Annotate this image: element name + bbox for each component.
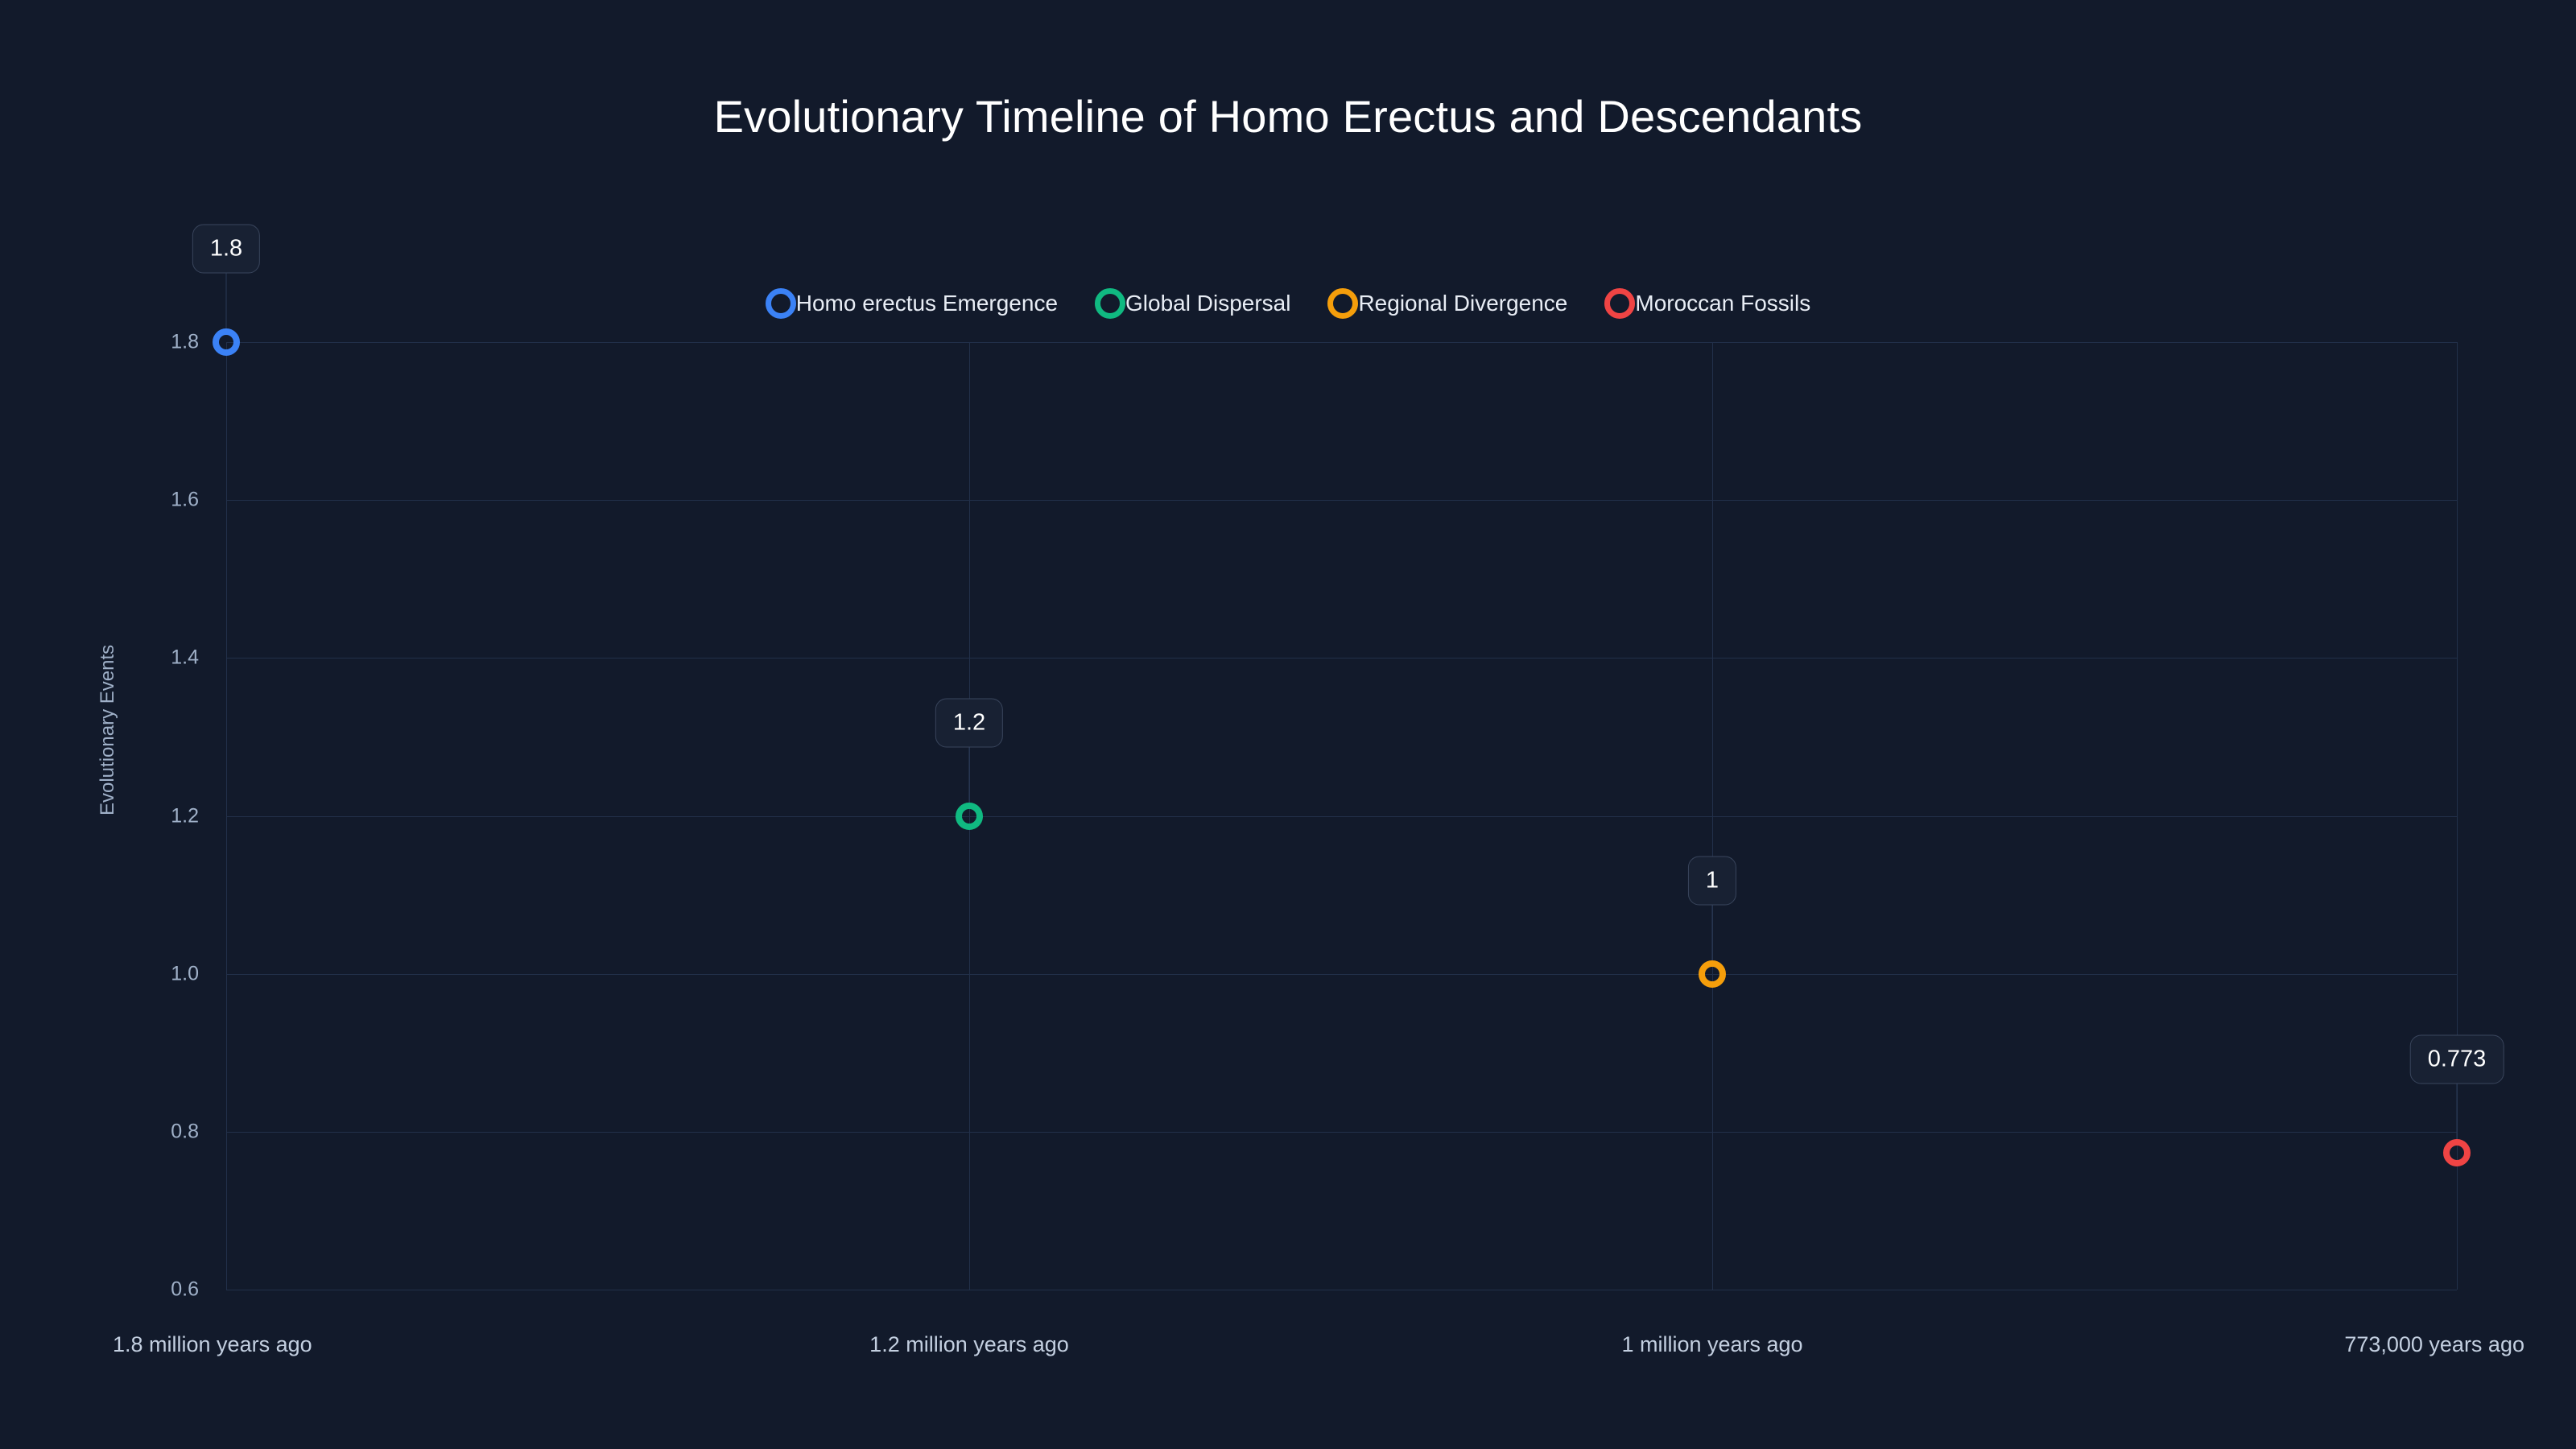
gridline-vertical (1712, 342, 1713, 1290)
plot-area (226, 342, 2457, 1290)
circle-ring-icon (1327, 288, 1358, 319)
gridline-horizontal (226, 658, 2457, 658)
data-point-value-label: 1.8 (192, 225, 260, 274)
y-axis-tick-label: 1.6 (171, 489, 199, 512)
gridline-horizontal (226, 974, 2457, 975)
y-axis-tick-label: 1.4 (171, 646, 199, 670)
circle-ring-icon (766, 288, 796, 319)
chart-legend: Homo erectus EmergenceGlobal DispersalRe… (0, 288, 2576, 319)
y-axis-title: Evolutionary Events (97, 645, 119, 815)
y-axis-tick-label: 1.0 (171, 962, 199, 985)
legend-item-3[interactable]: Moroccan Fossils (1604, 288, 1810, 319)
legend-item-label: Global Dispersal (1125, 291, 1290, 316)
chart-title: Evolutionary Timeline of Homo Erectus an… (0, 90, 2576, 142)
data-point-marker[interactable] (1699, 960, 1726, 988)
data-point-value-label: 0.773 (2410, 1035, 2504, 1084)
x-axis-tick-label: 1.2 million years ago (869, 1332, 1069, 1357)
legend-item-1[interactable]: Global Dispersal (1095, 288, 1290, 319)
x-axis-tick-label: 773,000 years ago (2344, 1332, 2524, 1357)
data-point-value-label: 1 (1688, 856, 1736, 905)
gridline-horizontal (226, 816, 2457, 817)
gridline-horizontal (226, 500, 2457, 501)
gridline-vertical (226, 342, 227, 1290)
y-axis-tick-labels: 1.81.61.41.21.00.80.6 (0, 342, 213, 1290)
legend-item-label: Regional Divergence (1358, 291, 1567, 316)
gridline-horizontal (226, 342, 2457, 343)
legend-item-label: Moroccan Fossils (1635, 291, 1810, 316)
data-point-marker[interactable] (956, 803, 983, 830)
data-point-marker[interactable] (213, 328, 240, 356)
circle-ring-icon (1604, 288, 1635, 319)
y-axis-tick-label: 1.2 (171, 804, 199, 828)
x-axis-tick-label: 1.8 million years ago (113, 1332, 312, 1357)
legend-item-label: Homo erectus Emergence (796, 291, 1058, 316)
x-axis-tick-label: 1 million years ago (1621, 1332, 1802, 1357)
circle-ring-icon (1095, 288, 1125, 319)
gridline-horizontal (226, 1290, 2457, 1290)
legend-item-2[interactable]: Regional Divergence (1327, 288, 1567, 319)
gridline-horizontal (226, 1132, 2457, 1133)
legend-item-0[interactable]: Homo erectus Emergence (766, 288, 1058, 319)
y-axis-tick-label: 0.6 (171, 1278, 199, 1302)
y-axis-tick-label: 1.8 (171, 331, 199, 354)
y-axis-tick-label: 0.8 (171, 1120, 199, 1143)
x-axis-tick-labels: 1.8 million years ago1.2 million years a… (0, 1332, 2576, 1364)
data-point-value-label: 1.2 (935, 698, 1003, 747)
data-point-marker[interactable] (2443, 1139, 2471, 1166)
chart-canvas: Evolutionary Timeline of Homo Erectus an… (0, 0, 2576, 1449)
